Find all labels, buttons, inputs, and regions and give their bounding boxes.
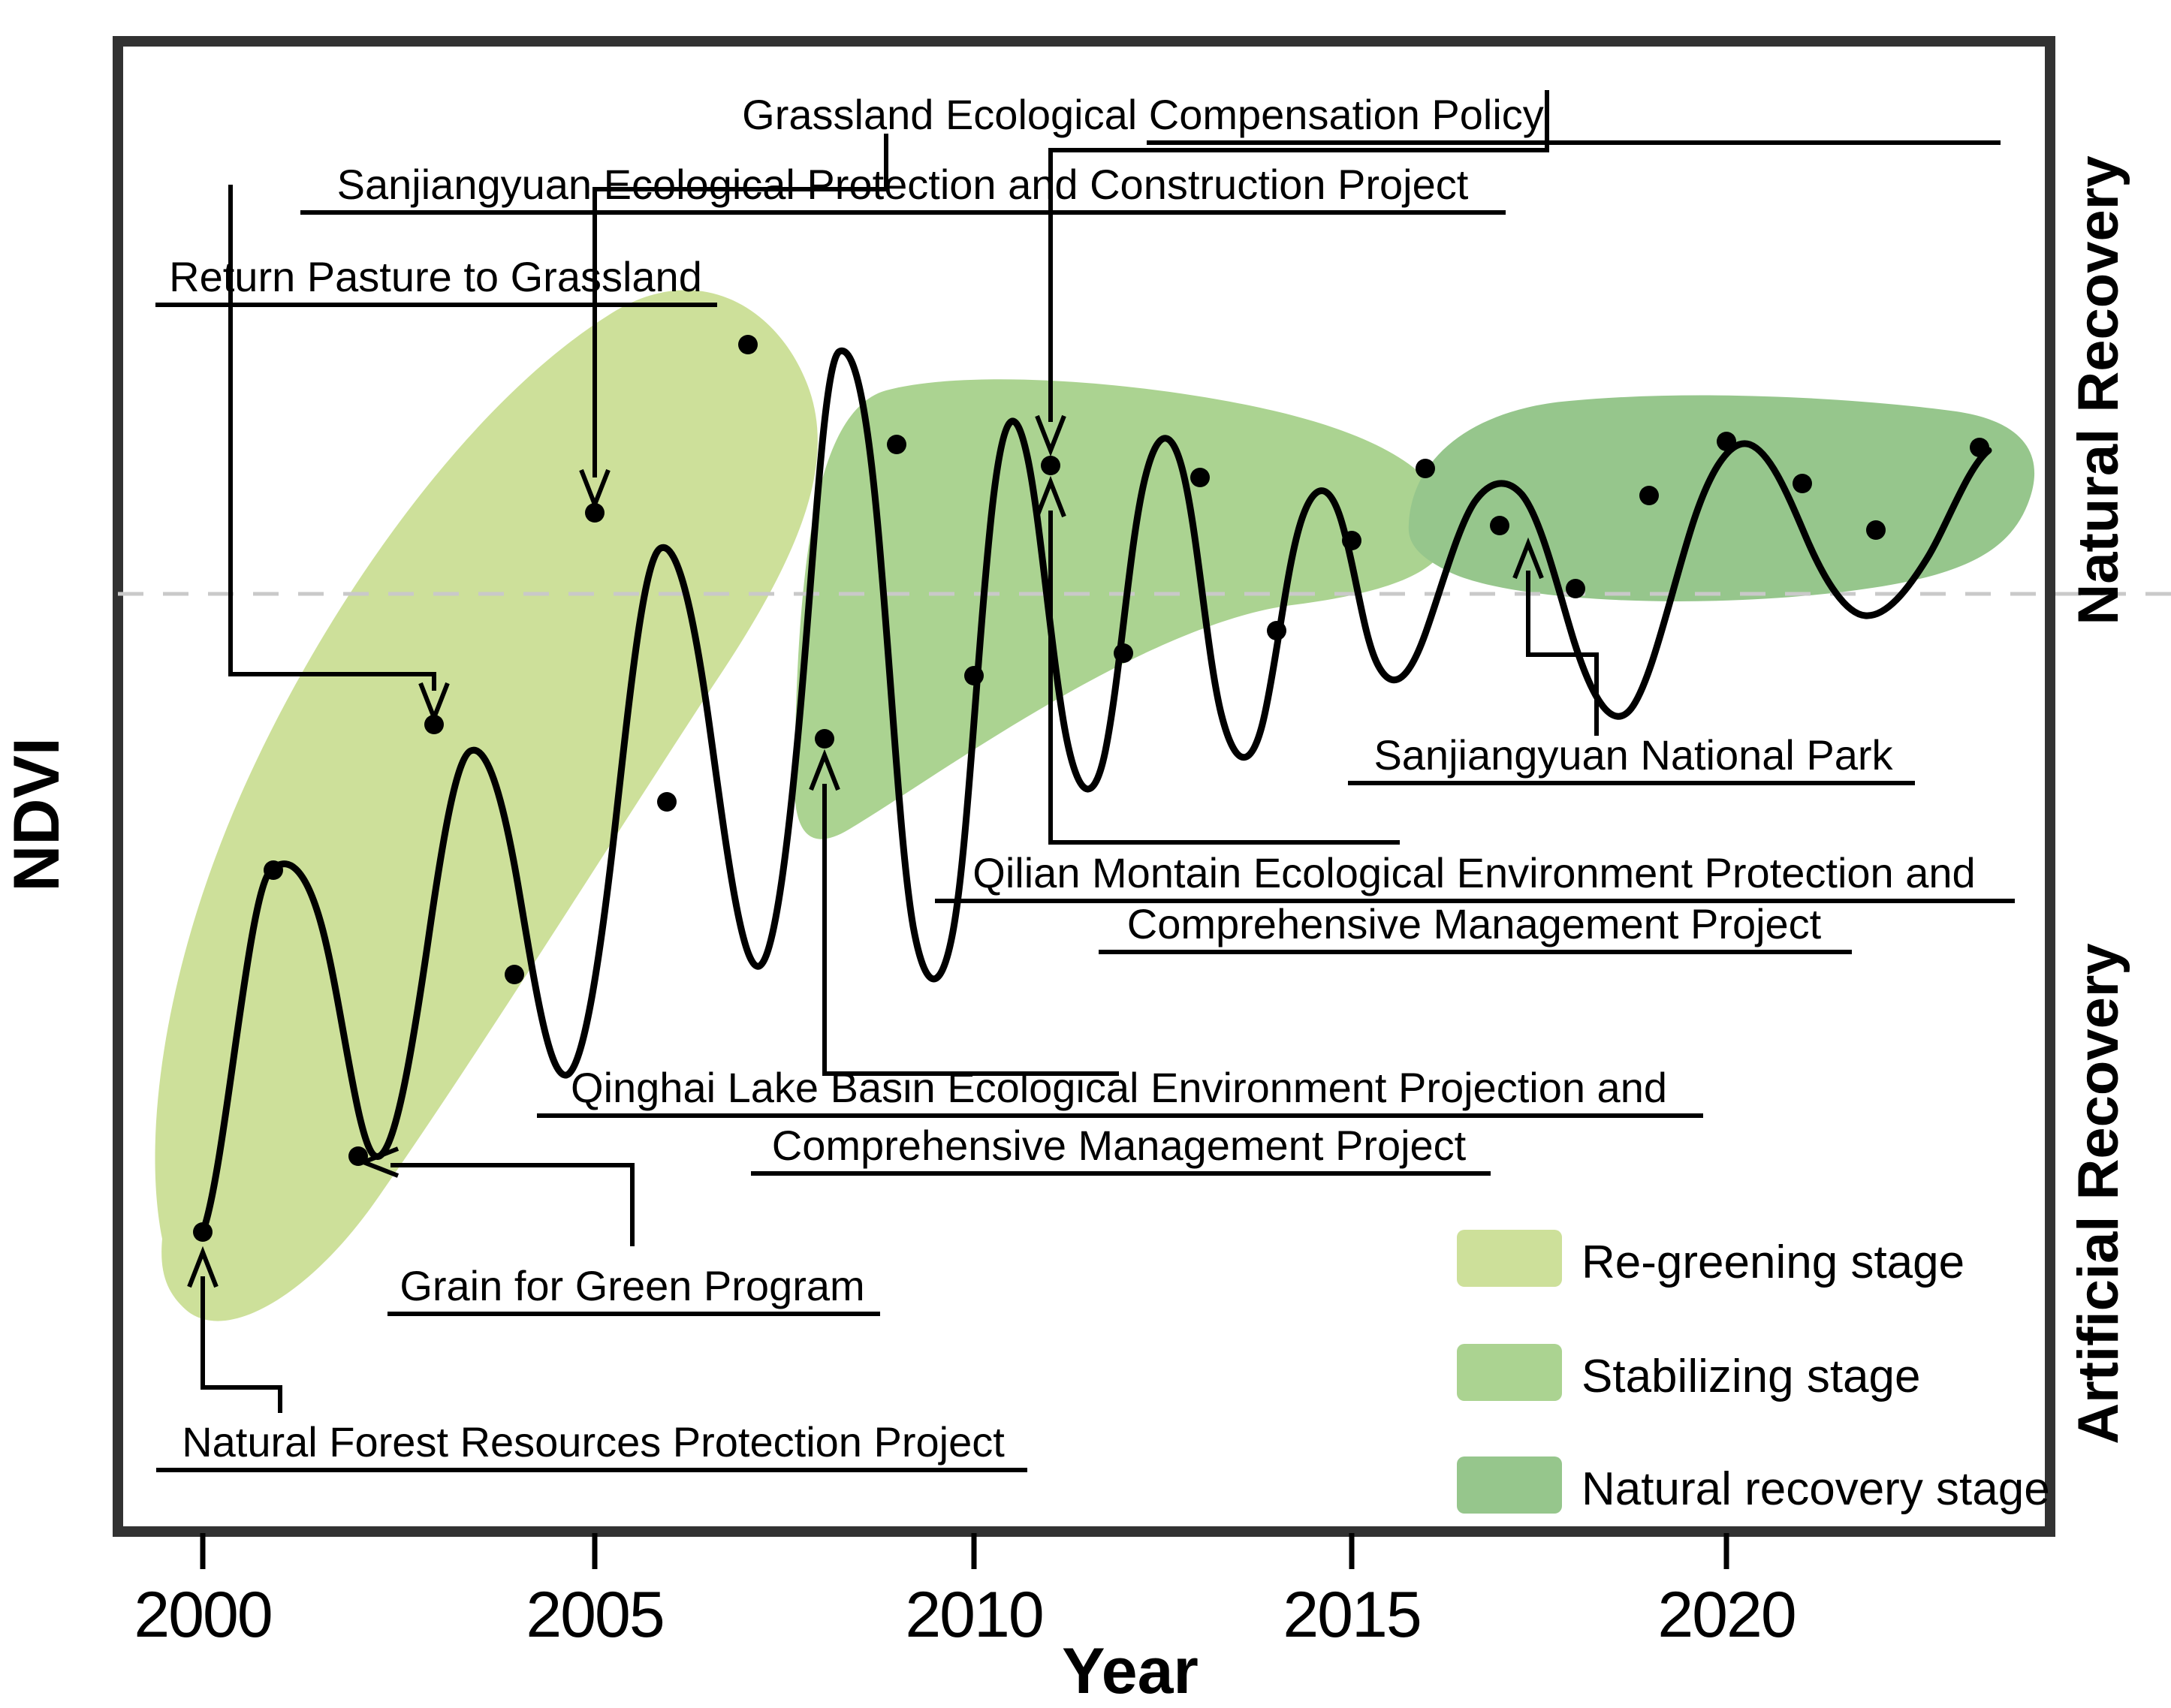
annotation-natural-forest-resources-protection-project: Natural Forest Resources Protection Proj… [182,1418,1005,1466]
y-axis-title: NDVI [1,737,73,891]
legend-label-stabilizing-stage: Stabilizing stage [1582,1351,1921,1402]
chart-canvas: Grassland Ecological Compensation Policy… [0,0,2171,1708]
annotation-grassland-ecological-compensation-policy: Grassland Ecological Compensation Policy [742,91,1544,138]
data-point [738,335,758,354]
side-label-artificial-recovery: Artificial Recovery [2067,943,2130,1444]
leader-qinghai-lake [825,784,1119,1074]
x-tick-2000: 2000 [134,1579,271,1651]
data-point [815,729,834,749]
data-point [1639,486,1659,505]
legend-label-natural-recovery-stage: Natural recovery stage [1582,1463,2050,1515]
data-point [505,965,524,984]
data-point [193,1222,213,1242]
data-point [1970,438,1989,457]
data-point [887,435,906,454]
data-point [1793,474,1812,493]
x-axis-tick-labels: 2000 2005 2010 2015 2020 [134,1579,1795,1651]
data-point [657,792,677,812]
data-point [1566,579,1585,598]
data-point [1717,432,1736,451]
x-axis-title: Year [1062,1635,1199,1707]
x-tick-2010: 2010 [905,1579,1042,1651]
data-point [1041,456,1060,475]
data-point [1866,520,1886,540]
legend-swatch-re-greening-stage [1457,1230,1562,1287]
stage-blob-natural-recovery [1409,396,2034,601]
annotation-sanjiangyuan-national-park: Sanjiangyuan National Park [1373,731,1893,779]
data-point [964,666,984,685]
data-point [264,860,283,880]
leader-grain-for-green [390,1165,632,1246]
legend-swatch-natural-recovery-stage [1457,1456,1562,1514]
annotation-qinghai-lake-basin-line1: Qinghai Lake Basin Ecological Environmen… [571,1064,1667,1111]
annotation-return-pasture-to-grassland: Return Pasture to Grassland [169,253,702,300]
data-point [1114,643,1133,663]
data-point [1416,459,1435,478]
data-point [1342,531,1361,550]
leader-grassland-policy [1051,90,1547,422]
legend-swatch-stabilizing-stage [1457,1344,1562,1401]
annotation-qilian-montain-line2: Comprehensive Management Project [1127,900,1822,947]
side-label-natural-recovery: Natural Recovery [2067,155,2130,625]
annotation-grain-for-green-program: Grain for Green Program [400,1262,864,1309]
x-tick-2020: 2020 [1657,1579,1795,1651]
legend: Re-greening stage Stabilizing stage Natu… [1457,1230,2050,1515]
ndvi-policy-timeline-figure: Grassland Ecological Compensation Policy… [0,0,2171,1708]
annotation-qilian-montain-line1: Qilian Montain Ecological Environment Pr… [972,849,1975,896]
x-axis-ticks [203,1533,1726,1569]
x-tick-2015: 2015 [1283,1579,1420,1651]
x-tick-2005: 2005 [526,1579,663,1651]
data-point [1490,516,1509,535]
legend-label-re-greening-stage: Re-greening stage [1582,1237,1964,1288]
annotation-qinghai-lake-basin-line2: Comprehensive Management Project [772,1122,1467,1169]
data-point [1190,468,1210,487]
annotation-sanjiangyuan-ecological-protection-and-construction-project: Sanjiangyuan Ecological Protection and C… [337,161,1469,208]
data-point [1267,621,1286,640]
